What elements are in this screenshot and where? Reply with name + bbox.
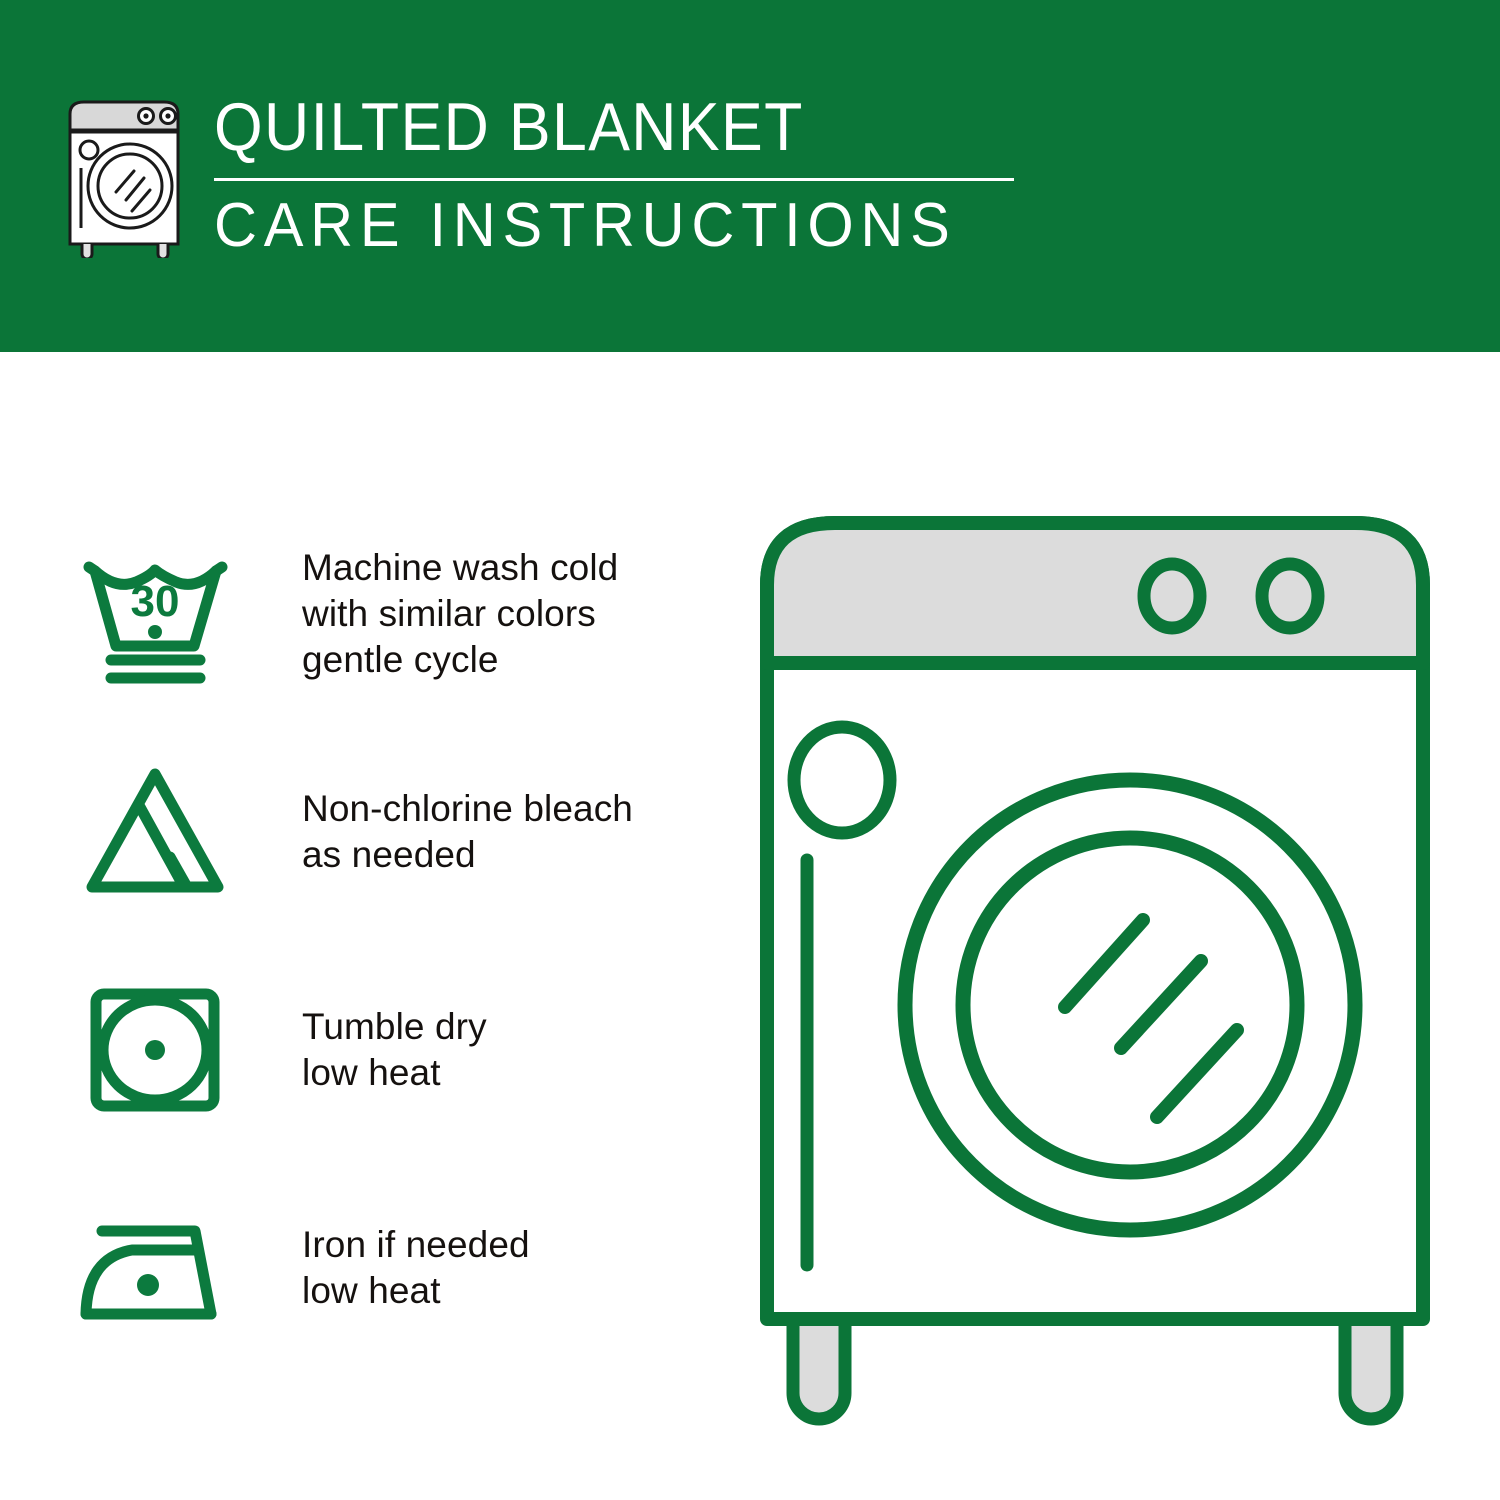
page-subtitle: CARE INSTRUCTIONS: [214, 191, 982, 261]
iron-low-heat-icon: [70, 1183, 240, 1353]
control-panel: [767, 523, 1423, 663]
control-knob-left: [1144, 564, 1200, 628]
header-banner: QUILTED BLANKET CARE INSTRUCTIONS: [0, 0, 1500, 352]
care-row-tumble-dry: Tumble dry low heat: [70, 941, 710, 1159]
triangle-non-chlorine-bleach-icon: [70, 747, 240, 917]
title-divider: [214, 178, 1014, 181]
tumble-dry-low-icon: [70, 965, 240, 1135]
care-row-wash: 30 Machine wash cold with similar colors…: [70, 505, 710, 723]
machine-legs: [793, 1315, 1397, 1419]
drum-inner-ring: [963, 838, 1297, 1172]
care-instruction-list: 30 Machine wash cold with similar colors…: [70, 505, 710, 1377]
care-row-bleach: Non-chlorine bleach as needed: [70, 723, 710, 941]
washing-machine-icon: [62, 96, 192, 258]
detergent-dispenser: [794, 727, 890, 833]
care-row-iron: Iron if needed low heat: [70, 1159, 710, 1377]
care-label-tumble-dry: Tumble dry low heat: [302, 1004, 487, 1096]
header-titles: QUILTED BLANKET CARE INSTRUCTIONS: [214, 90, 1014, 261]
care-label-bleach: Non-chlorine bleach as needed: [302, 786, 633, 878]
wash-tub-30-gentle-icon: 30: [70, 529, 240, 699]
control-knob-right: [1262, 564, 1318, 628]
care-label-iron: Iron if needed low heat: [302, 1222, 530, 1314]
header-content: QUILTED BLANKET CARE INSTRUCTIONS: [62, 96, 1014, 267]
wash-temperature-value: 30: [131, 577, 180, 626]
front-load-washing-machine-illustration: [745, 495, 1445, 1435]
care-label-wash: Machine wash cold with similar colors ge…: [302, 545, 618, 683]
page-title: QUILTED BLANKET: [214, 90, 950, 164]
